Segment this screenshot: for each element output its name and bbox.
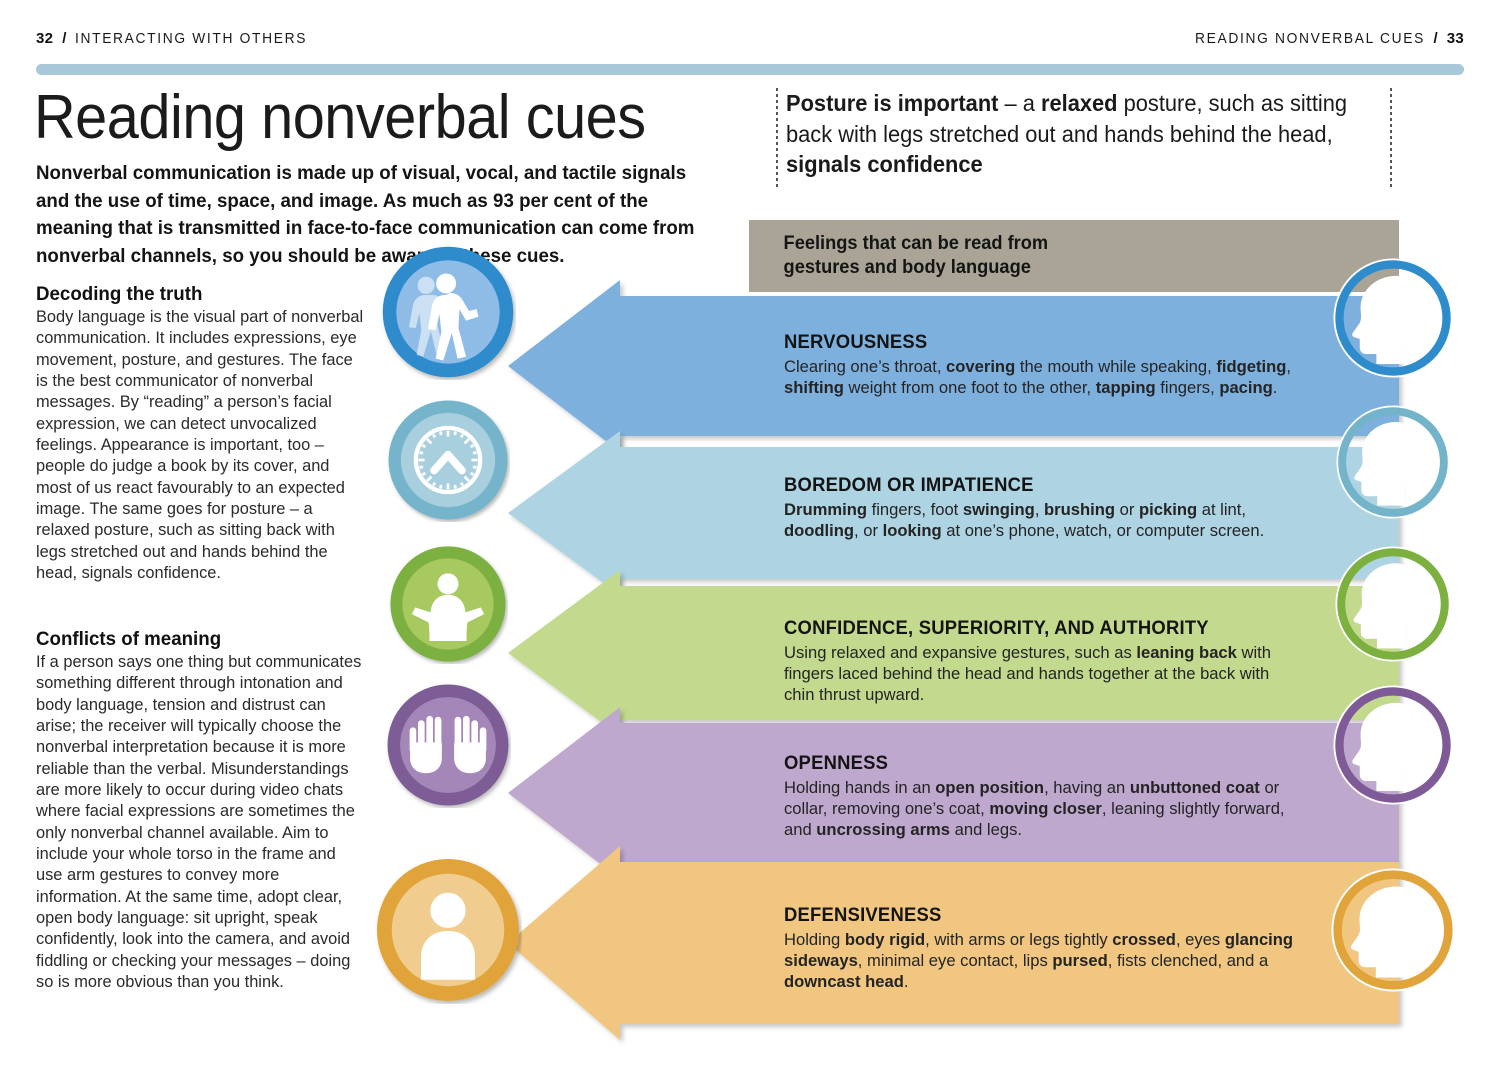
cue-body: Holding body rigid, with arms or legs ti… [784, 929, 1304, 993]
cue-head-badge [1331, 868, 1455, 992]
cue-title: DEFENSIVENESS [784, 905, 1288, 927]
person-icon [374, 856, 522, 1004]
cue-rows: NERVOUSNESSClearing one’s throat, coveri… [0, 0, 1500, 1072]
cue-text-block: DEFENSIVENESSHolding body rigid, with ar… [784, 905, 1304, 993]
head-profile-icon [1331, 868, 1455, 992]
cue-icon-badge [374, 856, 522, 1004]
cue-row[interactable]: DEFENSIVENESSHolding body rigid, with ar… [0, 0, 1500, 1072]
page: 32 / INTERACTING WITH OTHERS READING NON… [0, 0, 1500, 1072]
